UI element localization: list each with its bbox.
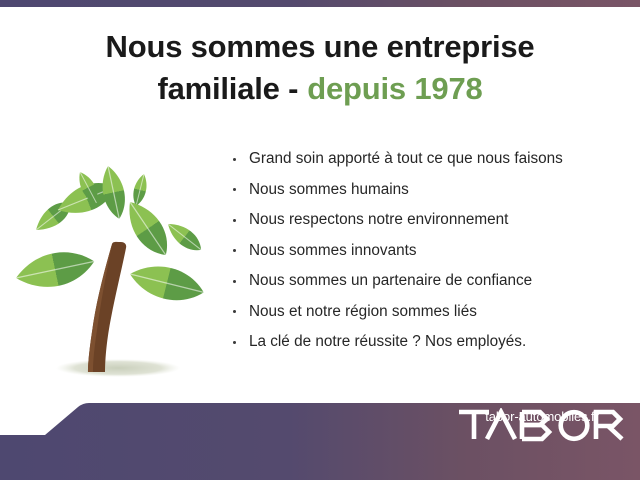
headline-line-2-plain: familiale - [157,71,298,106]
benefits-list: Grand soin apporté à tout ce que nous fa… [231,150,631,364]
slide-root: Nous sommes une entreprise familiale -de… [0,0,640,480]
headline-line-2: familiale -depuis 1978 [0,68,640,110]
tree-illustration [8,152,222,386]
list-item: Nous sommes innovants [231,242,631,260]
list-item: Nous respectons notre environnement [231,211,631,229]
page-title: Nous sommes une entreprise familiale -de… [0,26,640,110]
headline-accent-year: depuis 1978 [307,71,482,106]
list-item: Nous sommes un partenaire de confiance [231,272,631,290]
list-item: Nous et notre région sommes liés [231,303,631,321]
list-item: Nous sommes humains [231,181,631,199]
tabor-wordmark [456,408,628,442]
headline-line-1: Nous sommes une entreprise [0,26,640,68]
list-item: La clé de notre réussite ? Nos employés. [231,333,631,351]
footer-band: tabor-automobiles.fr [0,398,640,480]
list-item: Grand soin apporté à tout ce que nous fa… [231,150,631,168]
top-accent-bar [0,0,640,7]
tree-ground-shadow [56,359,180,377]
brand-logo: tabor-automobiles.fr [456,408,628,424]
